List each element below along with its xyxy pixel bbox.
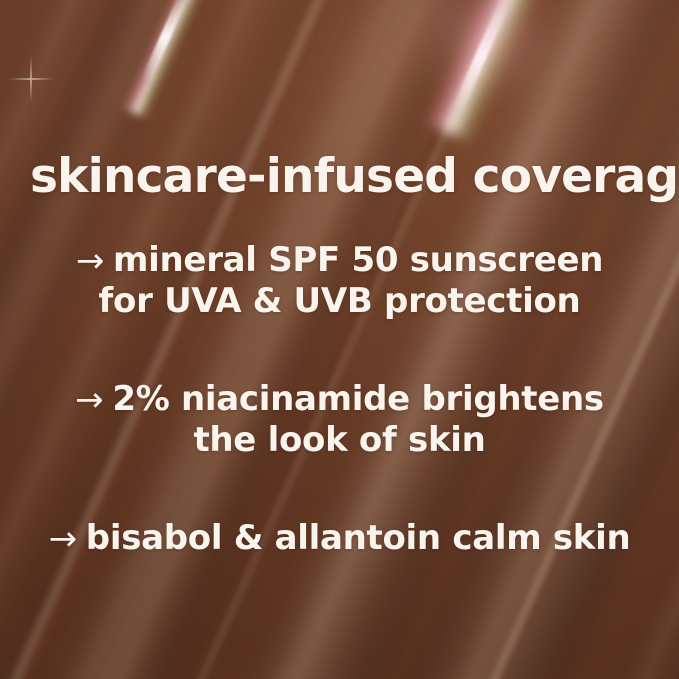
product-feature-poster: skincare-infused coverage. →mineral SPF … [0, 0, 679, 679]
arrow-right-icon: → [49, 522, 77, 556]
list-item-line-1: mineral SPF 50 sunscreen [113, 240, 603, 280]
arrow-right-icon: → [76, 244, 104, 278]
page-title: skincare-infused coverage. [30, 153, 655, 200]
benefit-list: →mineral SPF 50 sunscreen for UVA & UVB … [0, 240, 679, 559]
poster-content: skincare-infused coverage. →mineral SPF … [0, 0, 679, 679]
list-item: →mineral SPF 50 sunscreen for UVA & UVB … [0, 240, 679, 323]
list-item: →2% niacinamide brightens the look of sk… [0, 379, 679, 462]
list-item-line-1: bisabol & allantoin calm skin [86, 518, 631, 558]
arrow-right-icon: → [75, 383, 103, 417]
list-item-line-2: for UVA & UVB protection [0, 281, 679, 322]
list-item-line-2: the look of skin [0, 420, 679, 461]
list-item: →bisabol & allantoin calm skin [0, 518, 679, 559]
list-item-line-1: 2% niacinamide brightens [112, 379, 604, 419]
